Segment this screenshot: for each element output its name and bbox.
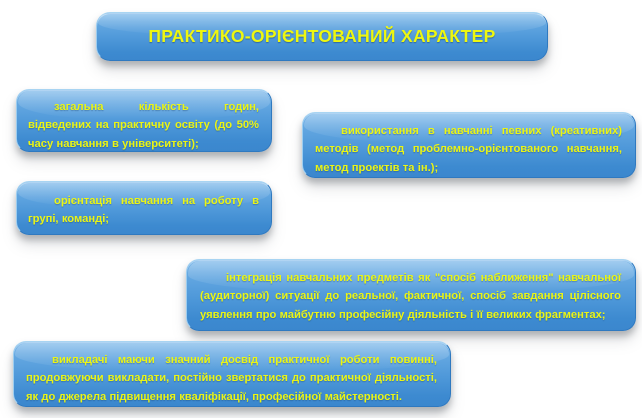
bullet-text-integration: інтеграція навчальних предметів як "спос… — [200, 269, 621, 324]
slide-canvas: ПРАКТИКО-ОРІЄНТОВАНИЙ ХАРАКТЕР загальна … — [0, 0, 642, 418]
page-title: ПРАКТИКО-ОРІЄНТОВАНИЙ ХАРАКТЕР — [148, 27, 495, 46]
bullet-text-hours: загальна кількість годин, відведених на … — [28, 98, 259, 153]
bullet-box-teamwork: орієнтація навчання на роботу в групі, к… — [16, 181, 272, 235]
bullet-text-teachers: викладачі маючи значний досвід практично… — [26, 351, 437, 406]
bullet-box-methods: використання в навчанні певних (креативн… — [302, 112, 636, 178]
bullet-box-hours: загальна кількість годин, відведених на … — [16, 89, 272, 152]
slide-title-plaque: ПРАКТИКО-ОРІЄНТОВАНИЙ ХАРАКТЕР — [96, 12, 548, 61]
bullet-text-teamwork: орієнтація навчання на роботу в групі, к… — [28, 192, 259, 229]
bullet-box-teachers: викладачі маючи значний досвід практично… — [13, 341, 451, 407]
bullet-text-methods: використання в навчанні певних (креативн… — [315, 122, 622, 177]
bullet-box-integration: інтеграція навчальних предметів як "спос… — [186, 259, 636, 331]
